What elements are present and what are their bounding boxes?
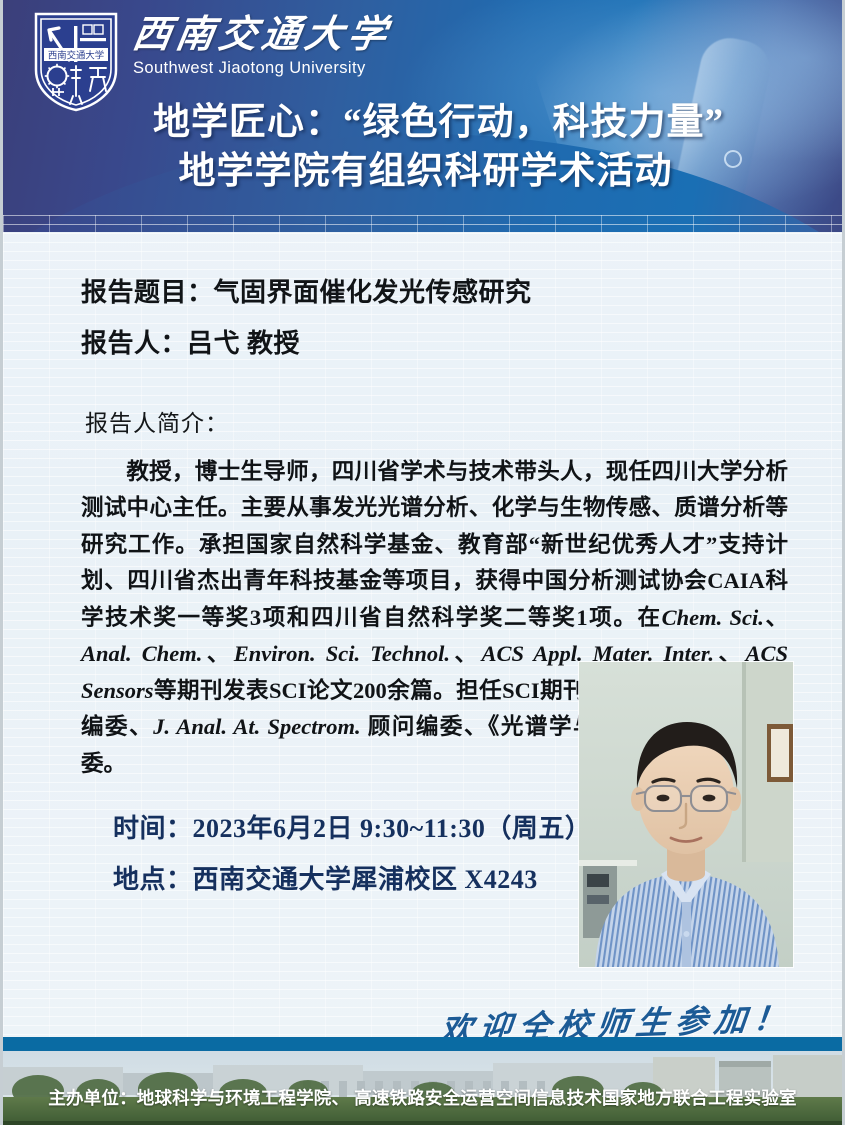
journal-j-anal-at-spectrom: J. Anal. At. Spectrom. (153, 714, 360, 739)
bio-block: 教授，博士生导师，四川省学术与技术带头人，现任四川大学分析测试中心主任。主要从事… (3, 454, 845, 782)
poster-root: 西南交通大学 西南交通大学 Southwest Jiaotong Univers… (0, 0, 845, 1125)
speaker-photo (579, 662, 793, 967)
header-banner: 西南交通大学 西南交通大学 Southwest Jiaotong Univers… (3, 0, 845, 232)
bio-sep-2: 、 (202, 641, 233, 666)
bio-text-middle: 等期刊发表SCI论文200余篇。担任SCI期刊 (154, 678, 593, 703)
footer-organizers: 主办单位：地球科学与环境工程学院、 高速铁路安全运营空间信息技术国家地方联合工程… (3, 1085, 842, 1110)
talk-speaker: 报告人：吕弋 教授 (81, 323, 845, 360)
bio-heading: 报告人简介： (85, 404, 845, 438)
event-title-line2: 地学学院有组织科研学术活动 (3, 147, 845, 196)
shield-band-text: 西南交通大学 (48, 49, 104, 60)
speaker-portrait-graphic (579, 662, 793, 967)
talk-topic: 报告题目：气固界面催化发光传感研究 (81, 272, 845, 309)
university-name-cn: 西南交通大学 (130, 16, 394, 54)
logo-wordmark: 西南交通大学 Southwest Jiaotong University (133, 16, 391, 78)
bio-text-mid2: 编委、 (81, 714, 153, 739)
university-name-en: Southwest Jiaotong University (133, 59, 391, 78)
journal-chem-sci: Chem. Sci. (662, 605, 764, 630)
bio-sep-3: 、 (450, 641, 481, 666)
footer-divider (3, 1037, 845, 1051)
journal-anal-chem: Anal. Chem. (81, 641, 202, 666)
event-title-line1: 地学匠心：“绿色行动，科技力量” (3, 98, 845, 147)
bio-sep-1: 、 (764, 605, 788, 630)
event-title: 地学匠心：“绿色行动，科技力量” 地学学院有组织科研学术活动 (3, 98, 845, 196)
poster-body: 报告题目：气固界面催化发光传感研究 报告人：吕弋 教授 报告人简介： (3, 232, 845, 910)
journal-environ-sci-technol: Environ. Sci. Technol. (234, 641, 450, 666)
